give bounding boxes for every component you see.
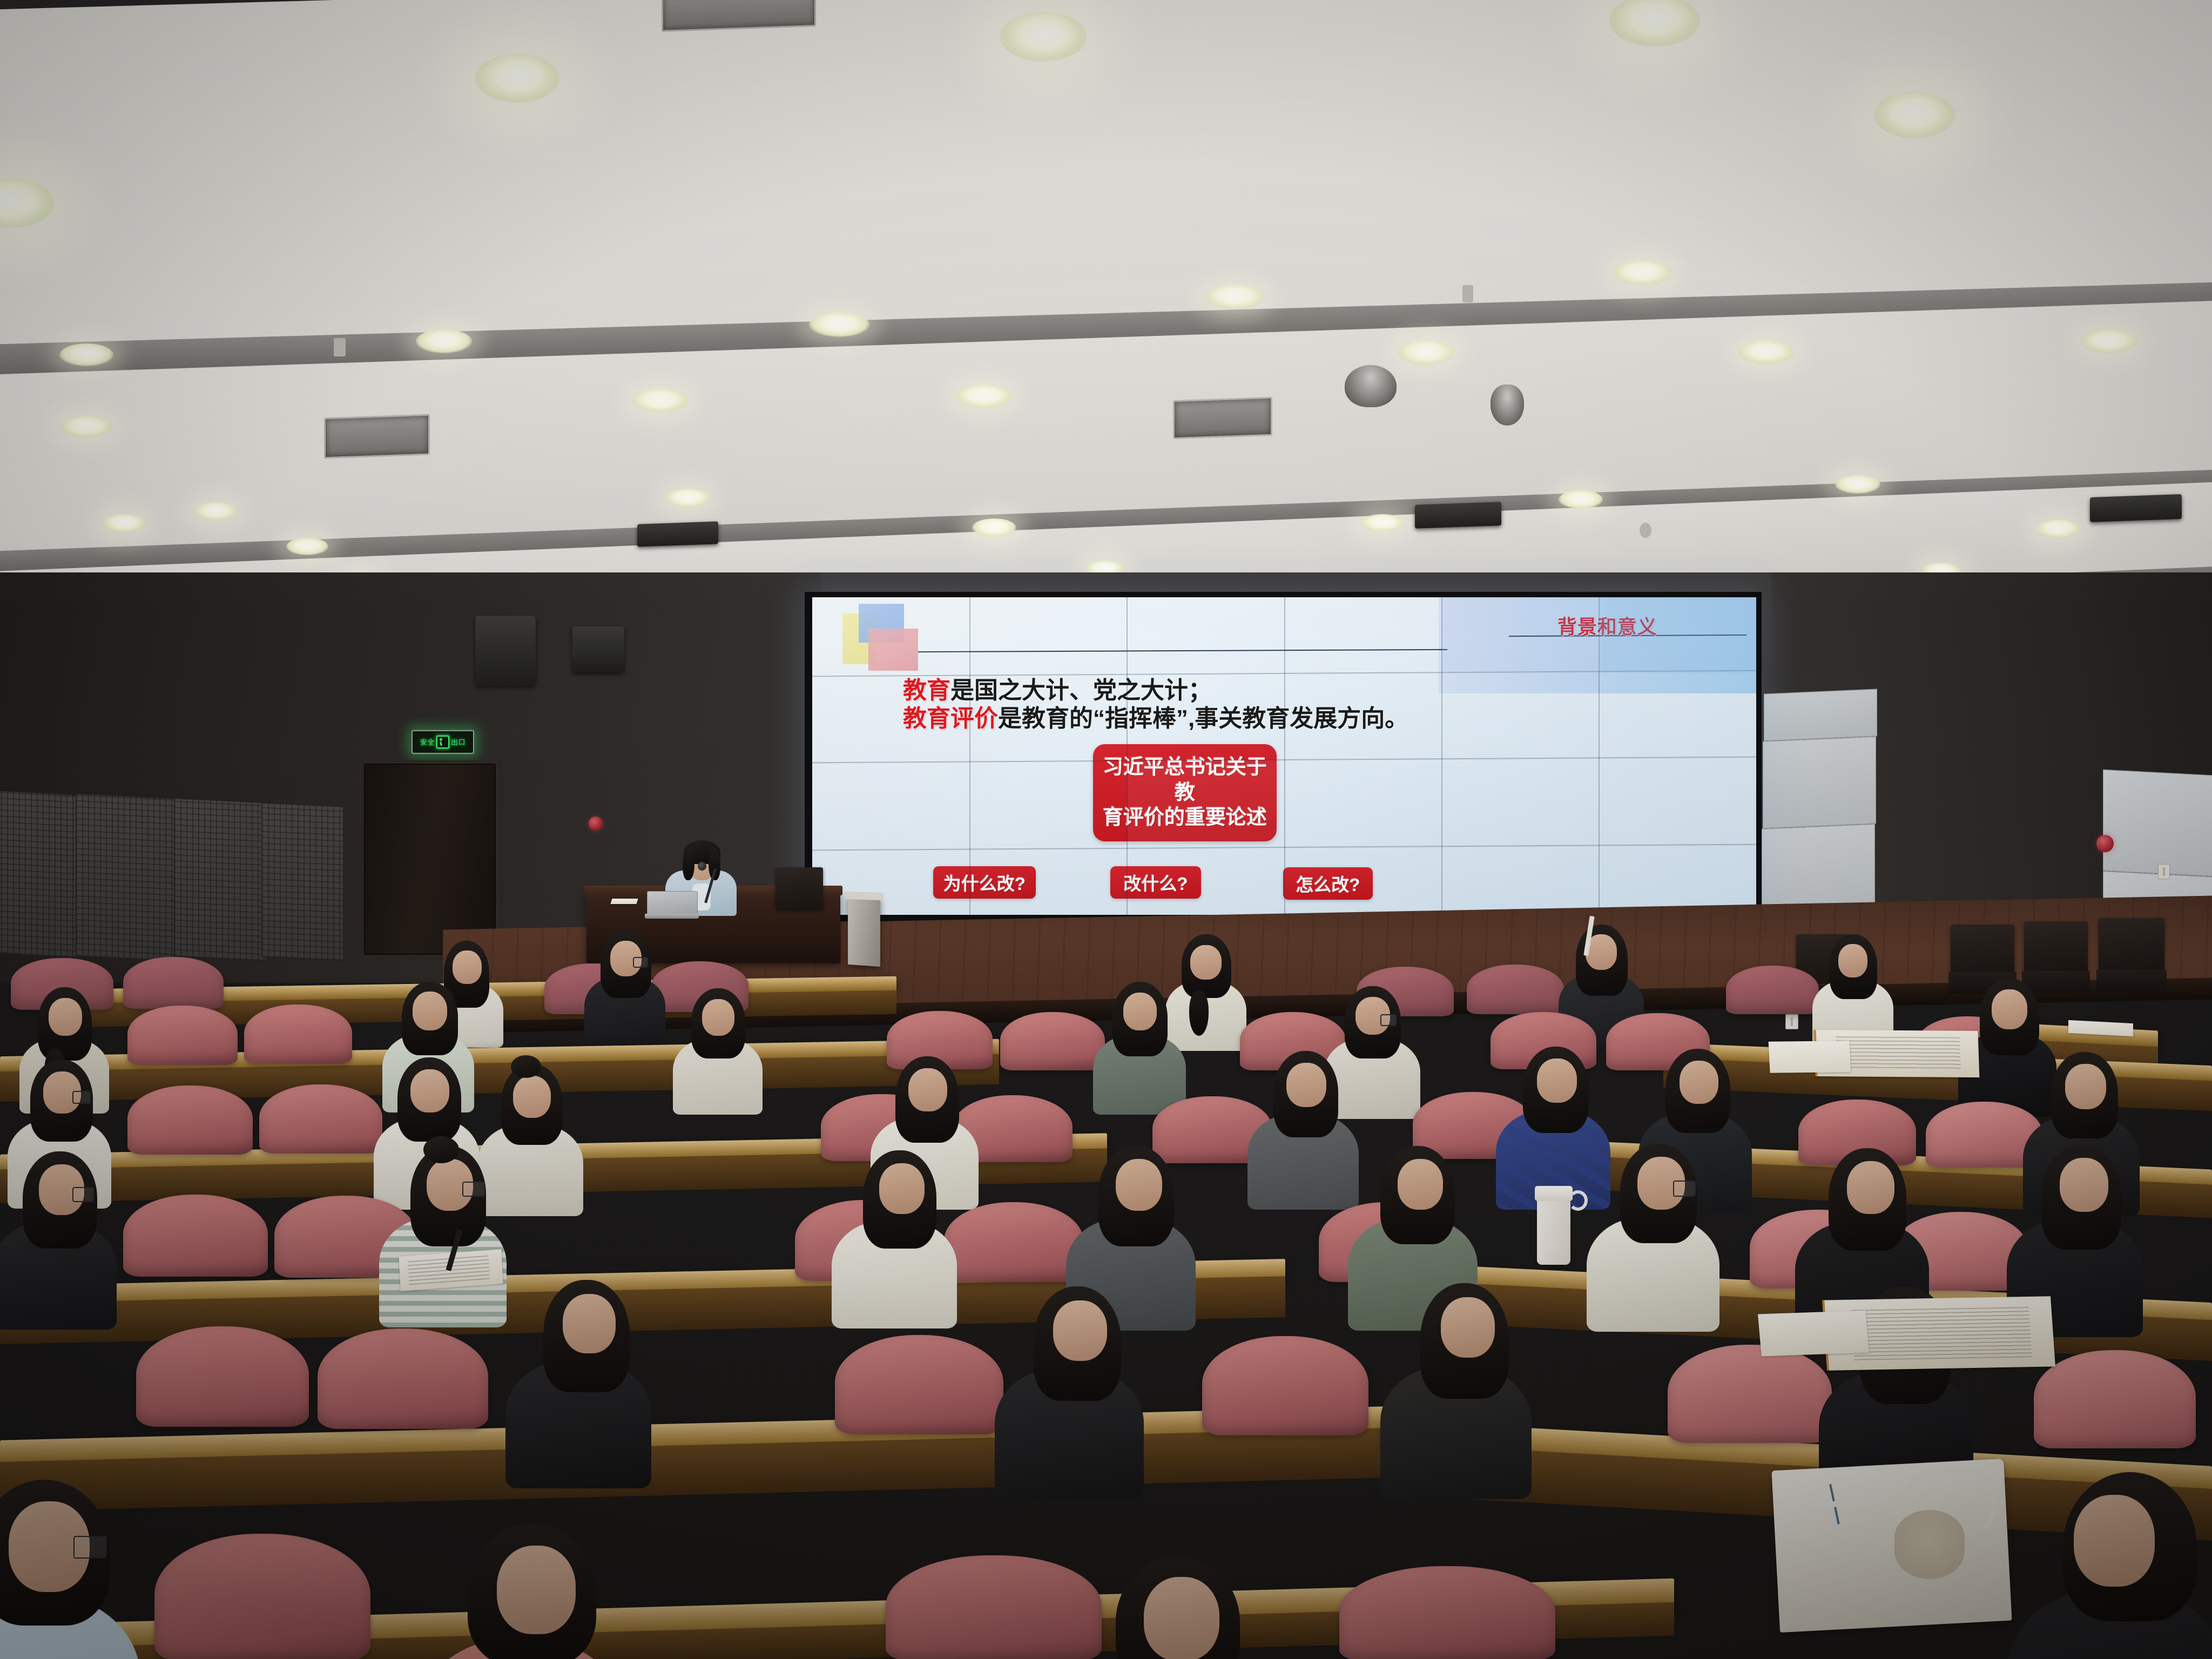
loose-paper xyxy=(1758,1310,1869,1356)
ceiling-light xyxy=(632,389,688,413)
seat xyxy=(123,1195,268,1277)
seat xyxy=(1339,1566,1555,1659)
seat xyxy=(154,1534,370,1659)
ceiling-light xyxy=(2036,520,2080,538)
fire-alarm-icon xyxy=(2096,835,2114,852)
presentation-screen[interactable]: 背景和意义 教育是国之大计、党之大计； 教育评价是教育的“指挥棒”,事关教育发展… xyxy=(812,597,1756,915)
exit-sign-label-left: 安全 xyxy=(420,739,435,746)
presenter-hair-left xyxy=(683,848,694,880)
loose-paper xyxy=(1769,1041,1851,1073)
security-camera xyxy=(1345,365,1397,407)
ceiling-light xyxy=(956,385,1012,408)
seat xyxy=(2034,1350,2196,1448)
seat xyxy=(259,1084,382,1154)
slide-question-pill-1-label: 为什么改? xyxy=(943,869,1026,895)
wall-speaker xyxy=(475,616,536,686)
wall-panel xyxy=(2103,770,2212,877)
notebook-writing xyxy=(1836,1036,1961,1069)
acoustic-panel xyxy=(76,793,179,962)
ceiling-light xyxy=(103,514,146,532)
ceiling-speaker xyxy=(2090,494,2182,522)
seat xyxy=(318,1328,488,1429)
exit-sign-label-right: 出口 xyxy=(451,739,466,746)
hvac-vent xyxy=(662,0,816,32)
ceiling-light xyxy=(1361,514,1404,531)
ceiling-light xyxy=(1738,340,1794,364)
seat xyxy=(1668,1345,1832,1443)
seat xyxy=(136,1326,309,1427)
seat xyxy=(1467,965,1564,1014)
chair-behind-presenter xyxy=(775,867,823,909)
notebook-writing xyxy=(1851,1305,2032,1360)
slide-header-title: 背景和意义 xyxy=(1557,611,1657,639)
slide-question-pill-2: 改什么? xyxy=(1110,866,1201,899)
seat xyxy=(1202,1336,1368,1435)
water-bottle-handle xyxy=(1568,1190,1588,1211)
wall-speaker xyxy=(572,626,624,673)
ceiling-light xyxy=(1000,12,1087,62)
ceiling-light xyxy=(2080,329,2137,353)
slide-question-pill-3: 怎么改? xyxy=(1283,867,1373,900)
microphone-head xyxy=(698,862,706,871)
security-camera xyxy=(1491,385,1524,426)
ceiling-light xyxy=(809,312,869,337)
ceiling-speaker xyxy=(637,521,718,547)
seat xyxy=(886,1555,1102,1659)
acoustic-panel xyxy=(0,790,82,958)
fire-alarm-icon xyxy=(589,817,603,831)
seat xyxy=(127,1085,253,1155)
door xyxy=(364,764,496,955)
slide-body-line-2-rest: 是教育的“指挥棒”,事关教育发展方向。 xyxy=(998,705,1408,732)
ceiling-light xyxy=(972,518,1016,537)
podium-top xyxy=(846,892,884,900)
emergency-exit-sign: 安全 出口 xyxy=(412,730,474,754)
table-paper xyxy=(610,899,638,904)
ceiling-light xyxy=(194,502,238,521)
acoustic-panel xyxy=(174,798,267,961)
slide-question-pill-2-label: 改什么? xyxy=(1123,869,1188,895)
side-chair xyxy=(2099,918,2164,972)
hvac-vent xyxy=(1173,397,1272,439)
podium xyxy=(848,895,880,967)
ceiling-light xyxy=(1559,490,1603,509)
hvac-vent xyxy=(324,414,430,459)
slide-body-line-2: 教育评价是教育的“指挥棒”,事关教育发展方向。 xyxy=(903,699,1408,733)
side-chair-seat xyxy=(2022,971,2090,994)
slide-center-callout-line-1: 习近平总书记关于教 xyxy=(1093,755,1277,805)
ceiling-speaker xyxy=(1415,502,1501,529)
ceiling-light xyxy=(1874,92,1955,138)
ceiling-light xyxy=(1835,475,1880,494)
seat xyxy=(1726,966,1819,1014)
pink-block xyxy=(868,629,918,671)
lecture-hall-photo: 安全 出口 背景和意义 教育是国之大计、党之大计； 教育评价是教育的“指挥棒”,… xyxy=(0,0,2212,1659)
ceiling-light xyxy=(60,416,112,437)
slide-body-line-2-highlight: 教育评价 xyxy=(903,705,998,732)
ceiling-light xyxy=(1398,340,1455,365)
ceiling-light xyxy=(416,329,472,353)
sprinkler-head xyxy=(334,338,346,356)
ceiling-light xyxy=(1613,260,1672,285)
side-chair-seat xyxy=(2096,970,2167,994)
water-bottle xyxy=(1537,1195,1570,1265)
side-chair xyxy=(1951,925,2014,976)
slide-divider-rule xyxy=(918,649,1447,652)
water-bottle-cap xyxy=(1535,1186,1573,1201)
slide-question-pill-1: 为什么改? xyxy=(933,866,1036,899)
sprinkler-head xyxy=(1640,523,1651,538)
ceiling xyxy=(0,0,2212,589)
seat xyxy=(123,957,224,1009)
seat xyxy=(244,1004,352,1064)
running-person-icon xyxy=(436,736,449,748)
ceiling-light xyxy=(59,343,113,366)
ceiling-light xyxy=(475,54,559,103)
wall-panel xyxy=(1763,736,1876,828)
ceiling-light xyxy=(1205,285,1265,309)
side-chair xyxy=(2024,921,2088,974)
acoustic-panel xyxy=(261,803,343,961)
ceiling-light xyxy=(286,538,328,555)
wall-panel xyxy=(1764,689,1877,741)
ceiling-light xyxy=(665,489,711,507)
seat xyxy=(127,1006,238,1065)
seat xyxy=(1000,1012,1105,1070)
sprinkler-head xyxy=(1462,285,1473,302)
seat xyxy=(835,1335,1003,1434)
slide-center-callout-line-2: 育评价的重要论述 xyxy=(1103,805,1267,830)
seat xyxy=(944,1202,1083,1282)
tote-bag-print xyxy=(1894,1510,1965,1579)
slide-center-callout: 习近平总书记关于教 育评价的重要论述 xyxy=(1093,744,1277,841)
light-switch xyxy=(1785,1014,1798,1029)
slide-question-pill-3-label: 怎么改? xyxy=(1296,871,1360,896)
light-switch xyxy=(2158,864,2170,879)
